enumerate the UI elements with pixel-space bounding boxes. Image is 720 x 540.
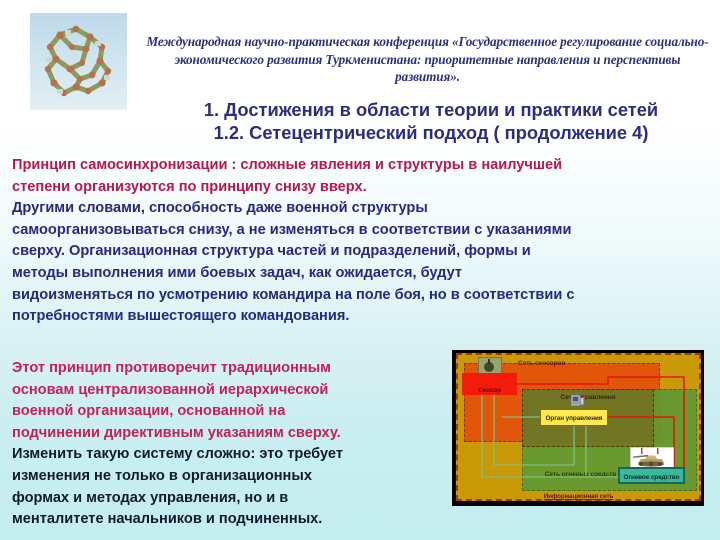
p1-navy-line-3: сверху. Организационная структура частей…	[12, 241, 712, 263]
fire-means-node[interactable]: Огневое средство	[618, 467, 685, 484]
paragraph-traditional-hierarchy: Этот принцип противоречит традиционным о…	[12, 358, 437, 531]
p1-red-line-2: степени организуются по принципу снизу в…	[12, 177, 712, 199]
heading-line-1: 1. Достижения в области теории и практик…	[150, 99, 712, 122]
p1-navy-line-4: методы выполнения ими боевых задач, как …	[12, 263, 712, 285]
p2-red-line-3: военной организации, основанной на	[12, 401, 437, 423]
p2-dark-line-4: менталитете начальников и подчиненных.	[12, 509, 437, 531]
network-structure-thumbnail	[30, 13, 127, 110]
information-network-region: Сеть огневых средств Сеть управления Сет…	[456, 353, 701, 501]
slide-header: Международная научно-практическая конфер…	[0, 0, 720, 150]
p1-navy-line-6: потребностями вышестоящего командования.	[12, 306, 712, 328]
p1-navy-line-1: Другими словами, способность даже военно…	[12, 198, 712, 220]
p2-red-line-4: подчинении директивным указаниям сверху.	[12, 423, 437, 445]
p2-dark-line-1: Изменить такую систему сложно: это требу…	[12, 444, 437, 466]
slide-headings: 1. Достижения в области теории и практик…	[150, 99, 712, 144]
computer-icon	[570, 393, 585, 408]
p1-navy-line-5: видоизменяться по усмотрению командира н…	[12, 285, 712, 307]
control-organ-node[interactable]: Орган управления	[540, 409, 608, 426]
p2-red-line-2: основам централизованной иерархической	[12, 380, 437, 402]
paragraph-self-synchronization: Принцип самосинхронизации : сложные явле…	[12, 155, 712, 328]
heading-line-2: 1.2. Сетецентрический подход ( продолжен…	[150, 122, 712, 145]
network-structure-icon	[30, 13, 127, 110]
network-centric-diagram: Сеть огневых средств Сеть управления Сет…	[452, 350, 704, 506]
information-network-label: Информационная сеть	[458, 493, 699, 500]
p1-navy-line-2: самоорганизовываться снизу, а не изменят…	[12, 220, 712, 242]
p2-dark-line-3: формах и методах управления, но и в	[12, 488, 437, 510]
sensor-node[interactable]: Сенсор	[462, 373, 517, 395]
p2-dark-line-2: изменения не только в организационных	[12, 466, 437, 488]
conference-title: Международная научно-практическая конфер…	[145, 33, 710, 86]
p2-red-line-1: Этот принцип противоречит традиционным	[12, 358, 437, 380]
p1-red-line-1: Принцип самосинхронизации : сложные явле…	[12, 155, 712, 177]
